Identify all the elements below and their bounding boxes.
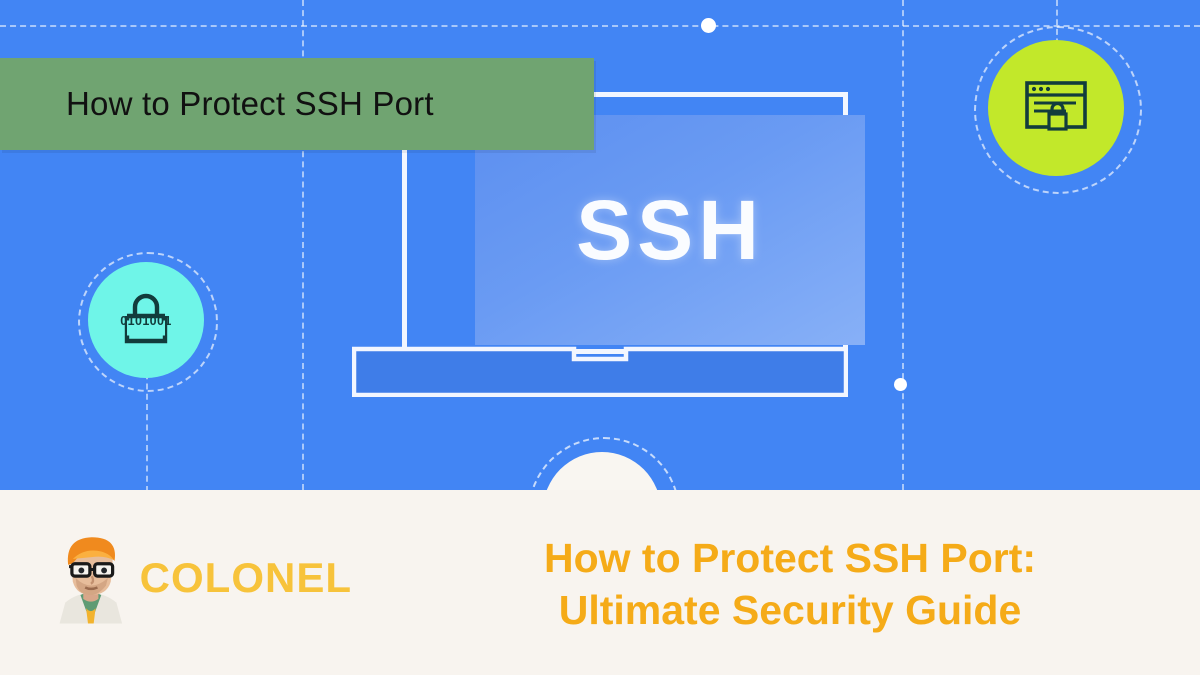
browser-window-lock-icon: [1018, 73, 1094, 143]
footer-headline: How to Protect SSH Port: Ultimate Securi…: [430, 532, 1150, 637]
hero-panel: 0101001 SSH: [0, 0, 1200, 490]
logo-wordmark: COLONEL: [140, 554, 352, 602]
lock-badge-binary-text: 0101001: [88, 314, 204, 328]
footer-headline-line1: How to Protect SSH Port:: [544, 535, 1036, 581]
dashed-guide-line-right: [902, 0, 904, 490]
featured-image-canvas: 0101001 SSH: [0, 0, 1200, 675]
laptop-base: [352, 345, 848, 397]
site-logo[interactable]: COLONEL: [52, 528, 352, 628]
overlay-title-banner: How to Protect SSH Port: [0, 58, 594, 150]
node-dot-top: [701, 18, 716, 33]
dashed-guide-line-top: [0, 25, 1200, 27]
screen-ssh-label: SSH: [576, 182, 764, 279]
lock-binary-badge[interactable]: 0101001: [88, 262, 204, 378]
colonel-mascot-avatar: [52, 530, 130, 626]
node-dot-right: [894, 378, 907, 391]
footer-headline-line2: Ultimate Security Guide: [430, 584, 1150, 636]
overlay-title-text: How to Protect SSH Port: [66, 85, 434, 123]
browser-lock-badge[interactable]: [988, 40, 1124, 176]
